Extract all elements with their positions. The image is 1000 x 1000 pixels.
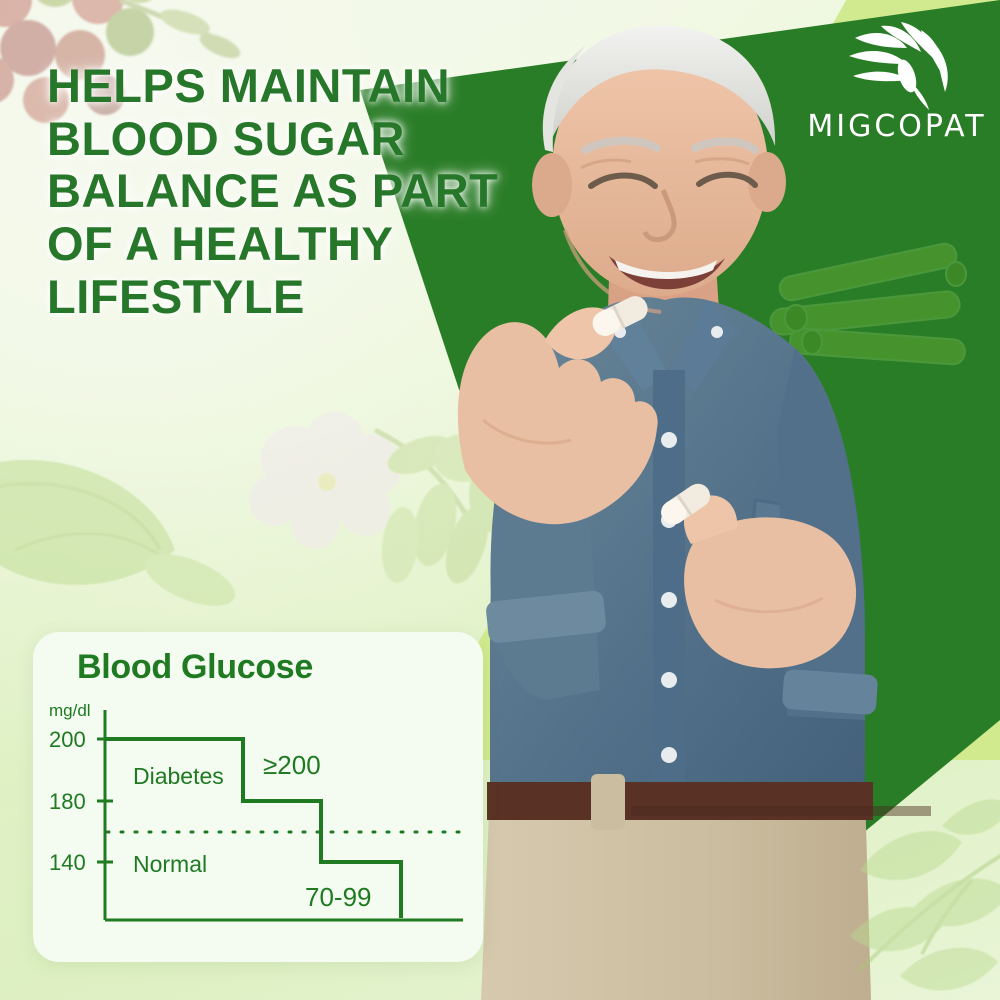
mint-leaf-decoration <box>0 430 240 630</box>
annotation-normal-value: 70-99 <box>305 882 372 912</box>
zone-label-normal: Normal <box>133 851 207 877</box>
y-tick-label-180: 180 <box>49 789 86 814</box>
chart-area: mg/dl 200 180 140 Diabetes Normal ≥200 7… <box>33 702 483 957</box>
leaf-sprig-icon <box>837 18 957 110</box>
leaf-sprig-decoration <box>710 730 1000 1000</box>
zone-label-diabetes: Diabetes <box>133 763 224 789</box>
blood-glucose-card: Blood Glucose mg/dl 200 <box>33 632 483 962</box>
y-tick-label-140: 140 <box>49 850 86 875</box>
annotation-diabetes-value: ≥200 <box>263 750 321 780</box>
chart-title: Blood Glucose <box>77 648 483 687</box>
poster-canvas: MIGCOPAT HELPS MAINTAIN BLOOD SUGAR BALA… <box>0 0 1000 1000</box>
y-axis-unit-label: mg/dl <box>49 702 91 720</box>
page-title: HELPS MAINTAIN BLOOD SUGAR BALANCE AS PA… <box>47 60 557 323</box>
blood-glucose-step-chart: mg/dl 200 180 140 Diabetes Normal ≥200 7… <box>33 702 483 957</box>
brand-logo: MIGCOPAT <box>802 18 992 168</box>
y-tick-label-200: 200 <box>49 727 86 752</box>
brand-name: MIGCOPAT <box>802 112 992 142</box>
